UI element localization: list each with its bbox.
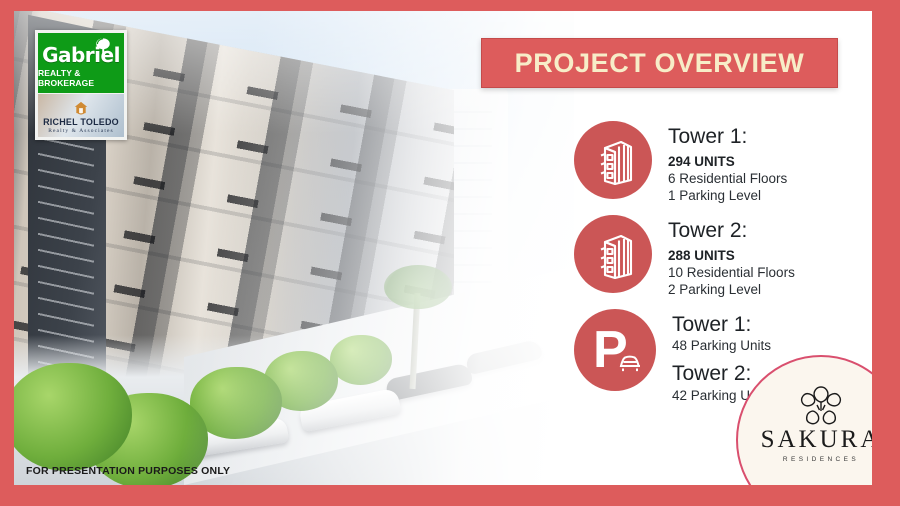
tower-icon-badge	[574, 215, 652, 293]
slide-canvas: Gabriel REALTY & BROKERAGE RICHEL TOLEDO…	[14, 11, 872, 485]
presentation-slide: Gabriel REALTY & BROKERAGE RICHEL TOLEDO…	[0, 0, 900, 506]
tower-icon-badge	[574, 121, 652, 199]
house-icon	[73, 100, 89, 115]
tree-icon	[94, 37, 112, 55]
tower-text-block: Tower 2: 288 UNITS 10 Residential Floors…	[668, 215, 795, 297]
tower-heading: Tower 2:	[668, 219, 795, 243]
tower-detail-line: 6 Residential Floors	[668, 171, 787, 186]
tower-units: 288 UNITS	[668, 248, 795, 263]
building-icon	[591, 229, 635, 279]
tower-text-block: Tower 1: 294 UNITS 6 Residential Floors …	[668, 121, 787, 203]
slide-title-banner: PROJECT OVERVIEW	[481, 38, 838, 88]
tower-info-row: Tower 1: 294 UNITS 6 Residential Floors …	[574, 121, 872, 203]
tower-detail-line: 10 Residential Floors	[668, 265, 795, 280]
building-icon	[591, 135, 635, 185]
broker-brand-subtitle: REALTY & BROKERAGE	[38, 68, 124, 88]
project-name-subtitle: RESIDENCES	[783, 456, 859, 463]
page-title: PROJECT OVERVIEW	[515, 48, 805, 79]
parking-icon-badge: P	[574, 309, 656, 391]
project-name: SAKURA	[761, 427, 872, 452]
agent-subtitle: Realty & Associates	[48, 128, 114, 134]
tower-units: 294 UNITS	[668, 154, 787, 169]
parking-tower-heading: Tower 1:	[672, 313, 771, 337]
sakura-flower-icon	[795, 383, 847, 427]
disclaimer-text: FOR PRESENTATION PURPOSES ONLY	[26, 465, 230, 477]
tower-detail-line: 1 Parking Level	[668, 188, 787, 203]
tower-heading: Tower 1:	[668, 125, 787, 149]
broker-logo-card: Gabriel REALTY & BROKERAGE RICHEL TOLEDO…	[35, 30, 127, 140]
parking-car-icon: P	[587, 322, 643, 378]
agent-logo-block: RICHEL TOLEDO Realty & Associates	[38, 94, 124, 137]
parking-tower-value: 48 Parking Units	[672, 338, 771, 353]
gabriel-realty-logo: Gabriel REALTY & BROKERAGE	[38, 33, 124, 93]
tower-info-row: Tower 2: 288 UNITS 10 Residential Floors…	[574, 215, 872, 297]
agent-name: RICHEL TOLEDO	[43, 117, 119, 127]
tower-detail-line: 2 Parking Level	[668, 282, 795, 297]
